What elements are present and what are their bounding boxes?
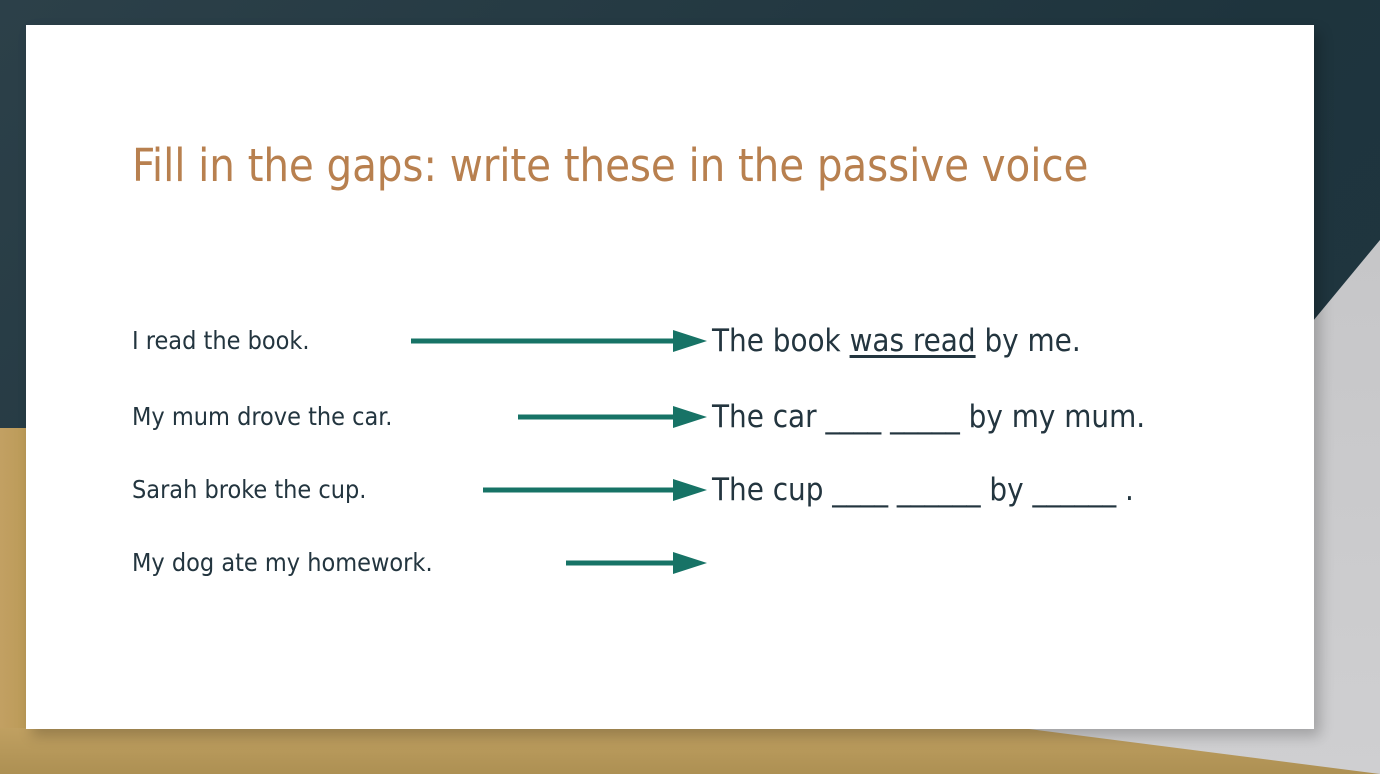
passive-sentence: The cup ____ ______ by ______ .	[712, 461, 1134, 519]
right-arrow-icon	[483, 461, 707, 519]
exercise-list: I read the book. The book was read by me…	[26, 25, 1314, 729]
exercise-row: My mum drove the car. The car ____ _____…	[26, 388, 1314, 446]
passive-sentence-answer: was read	[850, 323, 976, 359]
right-arrow-icon	[566, 534, 707, 592]
active-sentence: My dog ate my homework.	[132, 534, 433, 592]
right-arrow-icon	[518, 388, 707, 446]
exercise-row: My dog ate my homework.	[26, 534, 1314, 592]
active-sentence: Sarah broke the cup.	[132, 461, 366, 519]
slide-card: Fill in the gaps: write these in the pas…	[26, 25, 1314, 729]
exercise-row: I read the book. The book was read by me…	[26, 312, 1314, 370]
passive-sentence-after: by me.	[976, 323, 1081, 359]
passive-sentence-before: The book	[712, 323, 850, 359]
exercise-row: Sarah broke the cup. The cup ____ ______…	[26, 461, 1314, 519]
right-arrow-icon	[411, 312, 707, 370]
passive-sentence-before: The car ____ _____ by my mum.	[712, 399, 1145, 435]
passive-sentence: The car ____ _____ by my mum.	[712, 388, 1145, 446]
passive-sentence: The book was read by me.	[712, 312, 1081, 370]
slide-stage: Fill in the gaps: write these in the pas…	[0, 0, 1380, 774]
passive-sentence-before: The cup ____ ______ by ______ .	[712, 472, 1134, 508]
active-sentence: My mum drove the car.	[132, 388, 392, 446]
active-sentence: I read the book.	[132, 312, 310, 370]
